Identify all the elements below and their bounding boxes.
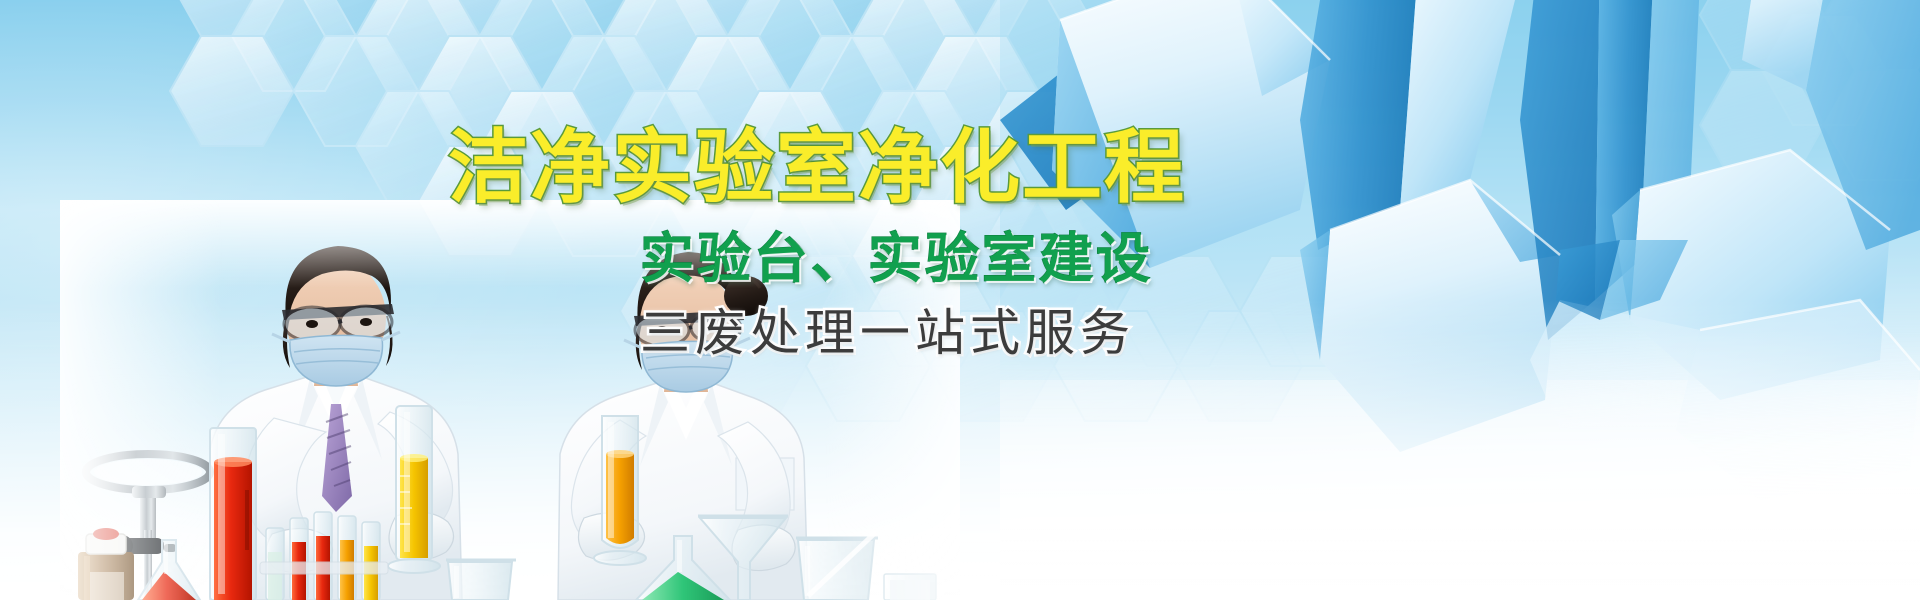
headline-block: 洁净实验室净化工程 实验台、实验室建设 三废处理一站式服务 — [440, 128, 1200, 358]
headline-tagline: 三废处理一站式服务 — [640, 308, 1200, 358]
headline-primary: 洁净实验室净化工程 — [448, 128, 1200, 208]
headline-secondary: 实验台、实验室建设 — [640, 232, 1200, 286]
lab-banner: 洁净实验室净化工程 实验台、实验室建设 三废处理一站式服务 — [0, 0, 1920, 600]
